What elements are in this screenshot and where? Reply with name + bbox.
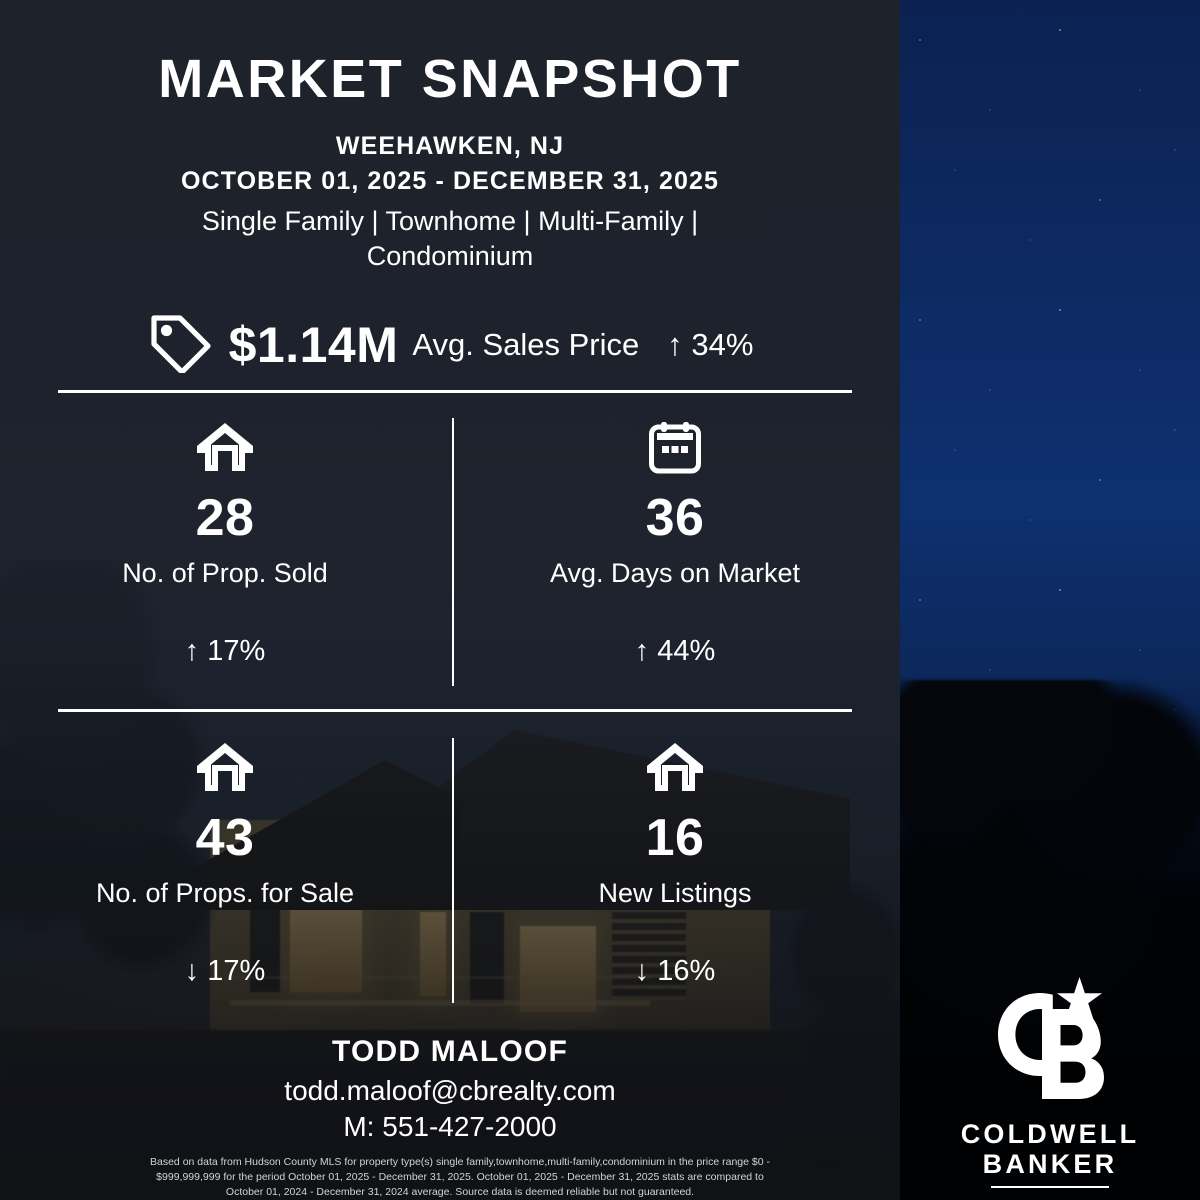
agent-name: TODD MALOOF (0, 1035, 900, 1069)
stat-label: Avg. Days on Market (450, 558, 900, 589)
stat-cell-days-on-market: 36 Avg. Days on Market ↑ 44% (450, 418, 900, 668)
avg-sales-price-value: $1.14M (229, 316, 399, 374)
logo-divider (991, 1186, 1109, 1188)
location-subtitle: WEEHAWKEN, NJ (0, 132, 900, 161)
avg-sales-price-row: $1.14M Avg. Sales Price ↑ 34% (0, 311, 900, 378)
coldwell-banker-logo: COLDWELL BANKER REALTY (900, 975, 1200, 1200)
avg-sales-price-label: Avg. Sales Price (412, 327, 639, 363)
stat-value: 28 (0, 488, 450, 548)
stat-cell-props-for-sale: 43 No. of Props. for Sale ↓ 17% (0, 738, 450, 988)
stats-row-1: 28 No. of Prop. Sold ↑ 17% 36 (0, 418, 900, 668)
calendar-icon (450, 418, 900, 476)
stat-cell-props-sold: 28 No. of Prop. Sold ↑ 17% (0, 418, 450, 668)
house-icon (0, 418, 450, 476)
stats-row-2: 43 No. of Props. for Sale ↓ 17% 16 New L… (0, 738, 900, 988)
house-icon (450, 738, 900, 796)
logo-banker-text: BANKER (900, 1149, 1200, 1179)
stat-delta: ↑ 17% (0, 635, 450, 668)
stat-value: 16 (450, 808, 900, 868)
stat-label: No. of Prop. Sold (0, 558, 450, 589)
logo-coldwell-text: COLDWELL (900, 1119, 1200, 1149)
price-tag-icon (147, 311, 215, 378)
cb-star-logo-icon (900, 975, 1200, 1107)
right-panel: COLDWELL BANKER REALTY (900, 0, 1200, 1200)
market-snapshot-card: COLDWELL BANKER REALTY MARKET SNAPSHOT W… (0, 0, 1200, 1200)
house-icon (0, 738, 450, 796)
stat-delta: ↓ 17% (0, 955, 450, 988)
stat-cell-new-listings: 16 New Listings ↓ 16% (450, 738, 900, 988)
date-range-subtitle: OCTOBER 01, 2025 - DECEMBER 31, 2025 (0, 167, 900, 196)
stat-value: 43 (0, 808, 450, 868)
agent-phone[interactable]: M: 551-427-2000 (0, 1111, 900, 1143)
stat-label: New Listings (450, 878, 900, 909)
page-title: MARKET SNAPSHOT (0, 48, 900, 110)
section-divider (58, 709, 852, 712)
stat-value: 36 (450, 488, 900, 548)
logo-realty-text: REALTY (900, 1194, 1200, 1200)
stat-label: No. of Props. for Sale (0, 878, 450, 909)
agent-contact-block: TODD MALOOF todd.maloof@cbrealty.com M: … (0, 1035, 900, 1143)
property-types-subtitle: Single Family | Townhome | Multi-Family … (140, 204, 760, 273)
agent-email[interactable]: todd.maloof@cbrealty.com (0, 1075, 900, 1107)
section-divider (58, 390, 852, 393)
left-content: MARKET SNAPSHOT WEEHAWKEN, NJ OCTOBER 01… (0, 0, 900, 1200)
disclaimer-text: Based on data from Hudson County MLS for… (150, 1155, 770, 1200)
stat-delta: ↑ 44% (450, 635, 900, 668)
stat-delta: ↓ 16% (450, 955, 900, 988)
avg-sales-price-delta: ↑ 34% (667, 327, 753, 363)
